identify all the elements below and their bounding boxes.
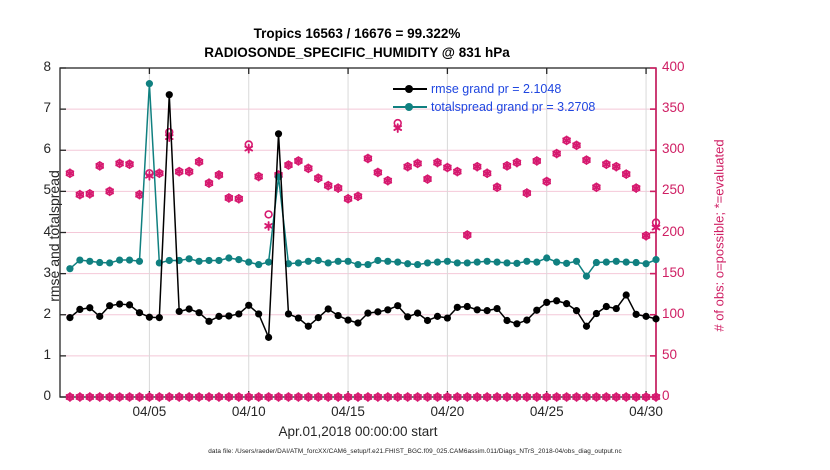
y-tick-label-right: 0 xyxy=(662,388,702,403)
series-point xyxy=(305,258,312,265)
series-point xyxy=(126,301,133,308)
y-tick-label-right: 150 xyxy=(662,265,702,280)
series-point xyxy=(255,310,262,317)
legend-label-rmse: rmse grand pr = 2.1048 xyxy=(428,82,561,96)
series-point xyxy=(225,254,232,261)
series-point xyxy=(523,258,530,265)
series-point xyxy=(384,306,391,313)
series-point xyxy=(642,260,649,267)
legend: rmse grand pr = 2.1048 totalspread grand… xyxy=(392,78,638,119)
series-point xyxy=(563,260,570,267)
series-point xyxy=(613,258,620,265)
y-tick-label-right: 350 xyxy=(662,100,702,115)
series-point xyxy=(424,259,431,266)
y-tick-label-left: 8 xyxy=(11,59,51,74)
series-point xyxy=(404,260,411,267)
series-point xyxy=(573,258,580,265)
y-tick-label-left: 3 xyxy=(11,265,51,280)
y-tick-label-left: 5 xyxy=(11,182,51,197)
series-point xyxy=(116,256,123,263)
series-point xyxy=(195,309,202,316)
y-tick-label-right: 250 xyxy=(662,182,702,197)
series-point xyxy=(136,309,143,316)
series-point xyxy=(76,306,83,313)
series-point xyxy=(454,259,461,266)
series-point xyxy=(513,260,520,267)
series-point xyxy=(533,307,540,314)
series-point xyxy=(444,314,451,321)
series-point xyxy=(186,255,193,262)
series-point xyxy=(225,312,232,319)
y-tick-label-right: 100 xyxy=(662,306,702,321)
series-point xyxy=(86,258,93,265)
series-point xyxy=(344,258,351,265)
series-point xyxy=(464,259,471,266)
y-tick-label-left: 0 xyxy=(11,388,51,403)
series-point xyxy=(106,302,113,309)
series-point xyxy=(603,303,610,310)
series-point xyxy=(553,259,560,266)
series-point xyxy=(623,259,630,266)
series-point xyxy=(493,259,500,266)
series-point xyxy=(464,303,471,310)
series-point xyxy=(156,314,163,321)
obs-series-group xyxy=(67,120,660,401)
x-tick-label: 04/10 xyxy=(214,404,284,419)
series-point xyxy=(543,254,550,261)
y-tick-label-left: 4 xyxy=(11,224,51,239)
series-point xyxy=(503,259,510,266)
series-point xyxy=(652,256,659,263)
series-point xyxy=(613,305,620,312)
series-point xyxy=(533,259,540,266)
y-tick-label-left: 6 xyxy=(11,141,51,156)
series-point xyxy=(553,297,560,304)
series-point xyxy=(295,259,302,266)
series-point xyxy=(583,272,590,279)
y-tick-label-right: 400 xyxy=(662,59,702,74)
x-tick-label: 04/05 xyxy=(114,404,184,419)
obs-evaluated-marker xyxy=(265,222,272,230)
series-point xyxy=(245,259,252,266)
series-point xyxy=(623,291,630,298)
series-point xyxy=(126,256,133,263)
series-point xyxy=(195,258,202,265)
series-point xyxy=(593,310,600,317)
series-point xyxy=(245,302,252,309)
series-point xyxy=(414,310,421,317)
series-point xyxy=(573,307,580,314)
legend-marker-totalspread-icon xyxy=(392,100,428,114)
series-point xyxy=(394,259,401,266)
series-point xyxy=(394,302,401,309)
y-tick-label-right: 50 xyxy=(662,347,702,362)
series-point xyxy=(215,313,222,320)
series-point xyxy=(265,259,272,266)
y-tick-label-left: 7 xyxy=(11,100,51,115)
series-point xyxy=(374,257,381,264)
y-tick-label-right: 300 xyxy=(662,141,702,156)
series-point xyxy=(652,315,659,322)
series-point xyxy=(633,259,640,266)
series-point xyxy=(513,320,520,327)
series-point xyxy=(583,323,590,330)
y-tick-label-left: 1 xyxy=(11,347,51,362)
series-point xyxy=(285,310,292,317)
series-point xyxy=(364,261,371,268)
series-point xyxy=(86,304,93,311)
series-point xyxy=(176,308,183,315)
series-point xyxy=(484,307,491,314)
series-point xyxy=(633,311,640,318)
series-point xyxy=(474,259,481,266)
x-tick-label: 04/30 xyxy=(611,404,681,419)
series-point xyxy=(444,258,451,265)
series-point xyxy=(344,317,351,324)
series-point xyxy=(315,314,322,321)
series-point xyxy=(335,258,342,265)
series-point xyxy=(374,308,381,315)
obs-possible-marker xyxy=(265,211,272,218)
series-point xyxy=(354,319,361,326)
series-point xyxy=(364,310,371,317)
legend-marker-rmse-icon xyxy=(392,82,428,96)
x-tick-label: 04/15 xyxy=(313,404,383,419)
series-point xyxy=(414,261,421,268)
y-tick-label-left: 2 xyxy=(11,306,51,321)
legend-item-totalspread[interactable]: totalspread grand pr = 3.2708 xyxy=(392,98,638,116)
series-point xyxy=(434,259,441,266)
series-point xyxy=(166,91,173,98)
series-point xyxy=(454,304,461,311)
series-point xyxy=(205,257,212,264)
series-point xyxy=(186,305,193,312)
series-point xyxy=(106,259,113,266)
figure-canvas: Tropics 16563 / 16676 = 99.322% RADIOSON… xyxy=(0,0,830,470)
x-tick-label: 04/25 xyxy=(512,404,582,419)
series-point xyxy=(215,257,222,264)
series-point xyxy=(146,80,153,87)
series-point xyxy=(404,313,411,320)
series-point xyxy=(146,314,153,321)
series-point xyxy=(384,258,391,265)
series-point xyxy=(235,310,242,317)
legend-item-rmse[interactable]: rmse grand pr = 2.1048 xyxy=(392,80,638,98)
series-point xyxy=(295,314,302,321)
legend-label-totalspread: totalspread grand pr = 3.2708 xyxy=(428,100,595,114)
series-point xyxy=(66,265,73,272)
series-point xyxy=(325,259,332,266)
series-point xyxy=(265,334,272,341)
series-point xyxy=(96,313,103,320)
series-point xyxy=(493,305,500,312)
series-point xyxy=(235,256,242,263)
x-tick-label: 04/20 xyxy=(412,404,482,419)
series-point xyxy=(563,300,570,307)
series-point xyxy=(484,258,491,265)
series-point xyxy=(96,259,103,266)
series-point xyxy=(66,314,73,321)
y-tick-label-right: 200 xyxy=(662,224,702,239)
series-point xyxy=(116,300,123,307)
series-point xyxy=(205,318,212,325)
series-point xyxy=(474,306,481,313)
series-point xyxy=(166,257,173,264)
series-point xyxy=(305,323,312,330)
series-point xyxy=(523,317,530,324)
series-point xyxy=(603,259,610,266)
series-point xyxy=(503,317,510,324)
series-point xyxy=(136,258,143,265)
series-point xyxy=(543,299,550,306)
series-point xyxy=(335,312,342,319)
series-point xyxy=(593,259,600,266)
series-point xyxy=(325,305,332,312)
series-point xyxy=(642,313,649,320)
series-point xyxy=(255,261,262,268)
series-point xyxy=(76,256,83,263)
series-point xyxy=(434,313,441,320)
series-point xyxy=(424,317,431,324)
series-rmse xyxy=(66,91,659,341)
series-point xyxy=(354,261,361,268)
series-point xyxy=(315,257,322,264)
plot-area xyxy=(0,0,830,470)
series-point xyxy=(275,130,282,137)
